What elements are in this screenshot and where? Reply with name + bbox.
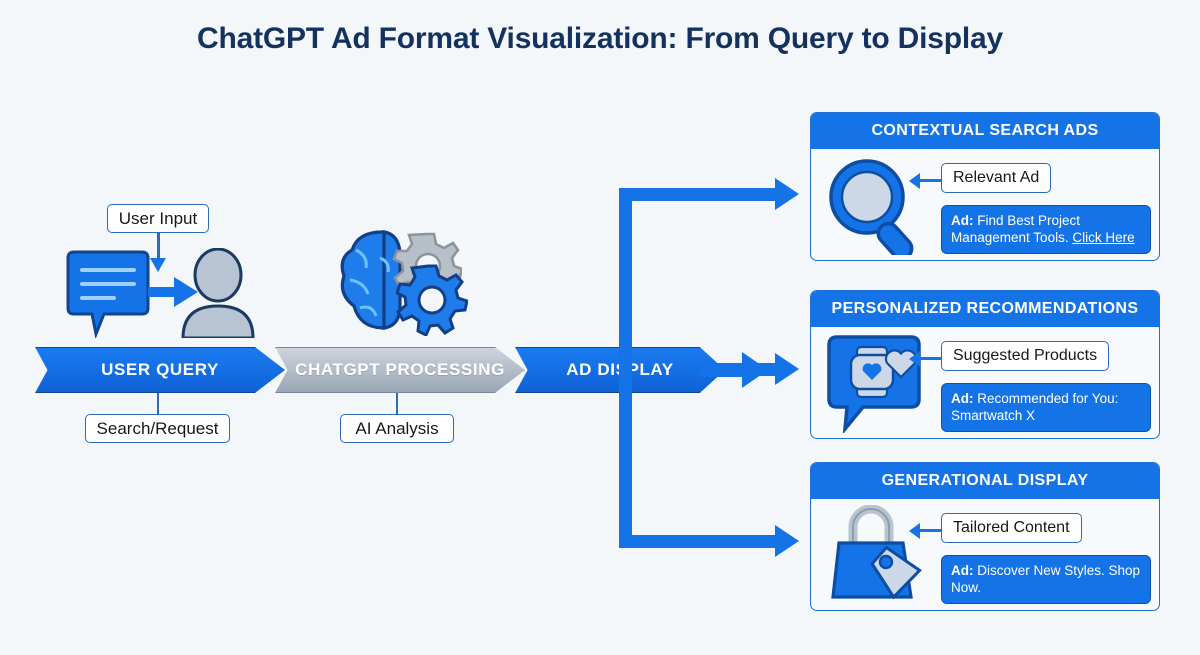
ad-card-personalized-recommendations[interactable]: PERSONALIZED RECOMMENDATIONS Suggested P… [810,290,1160,439]
ad-text: Discover New Styles. Shop Now. [951,563,1140,595]
callout-arrow-stem [917,179,943,182]
branch-trunk [619,188,632,548]
ad-text: Recommended for You: Smartwatch X [951,391,1118,423]
card-body: Relevant Ad Ad: Find Best Project Manage… [811,149,1159,260]
search-request-connector [157,393,159,415]
branch-arrow-middle-icon [775,353,799,385]
page-title: ChatGPT Ad Format Visualization: From Qu… [0,22,1200,56]
callout-arrow-stem [917,529,943,532]
stage-user-query[interactable]: USER QUERY [35,347,285,393]
callout-arrow-head-icon [909,351,920,367]
callout-arrow-head-icon [909,523,920,539]
ad-click-here-link[interactable]: Click Here [1072,230,1134,245]
ad-preview-box[interactable]: Ad: Discover New Styles. Shop Now. [941,555,1151,604]
branch-arrow-top-icon [775,178,799,210]
branch-arrow-bottom-icon [775,525,799,557]
ad-preview-box[interactable]: Ad: Find Best Project Management Tools. … [941,205,1151,254]
user-input-label: User Input [107,204,209,233]
person-icon [178,248,258,338]
branch-arm-bottom [619,535,779,548]
magnifying-glass-icon [823,155,927,255]
card-header-title: PERSONALIZED RECOMMENDATIONS [811,291,1159,327]
gear-icon [396,264,468,336]
callout-suggested-products: Suggested Products [941,341,1109,371]
smartwatch-heart-bubble-icon [823,333,927,433]
ad-card-generational-display[interactable]: GENERATIONAL DISPLAY Tailored Content Ad… [810,462,1160,611]
ad-prefix: Ad: [951,213,974,228]
speech-bubble-icon [62,250,154,338]
ad-preview-box[interactable]: Ad: Recommended for You: Smartwatch X [941,383,1151,432]
callout-tailored-content: Tailored Content [941,513,1082,543]
diagram-canvas: ChatGPT Ad Format Visualization: From Qu… [0,0,1200,655]
search-request-label: Search/Request [85,414,230,443]
card-header-title: CONTEXTUAL SEARCH ADS [811,113,1159,149]
callout-arrow-head-icon [909,173,920,189]
callout-relevant-ad: Relevant Ad [941,163,1051,193]
branch-arm-top [619,188,779,201]
ai-analysis-label: AI Analysis [340,414,454,443]
callout-arrow-stem [917,357,943,360]
card-header-title: GENERATIONAL DISPLAY [811,463,1159,499]
ad-prefix: Ad: [951,391,974,406]
card-body: Tailored Content Ad: Discover New Styles… [811,499,1159,610]
ad-card-contextual-search-ads[interactable]: CONTEXTUAL SEARCH ADS Relevant Ad Ad: Fi… [810,112,1160,261]
stage-chatgpt-processing[interactable]: CHATGPT PROCESSING [275,347,525,393]
ai-analysis-connector [396,393,398,415]
shopping-bag-tag-icon [823,505,927,605]
ad-prefix: Ad: [951,563,974,578]
card-body: Suggested Products Ad: Recommended for Y… [811,327,1159,438]
branch-arm-middle [700,363,778,376]
